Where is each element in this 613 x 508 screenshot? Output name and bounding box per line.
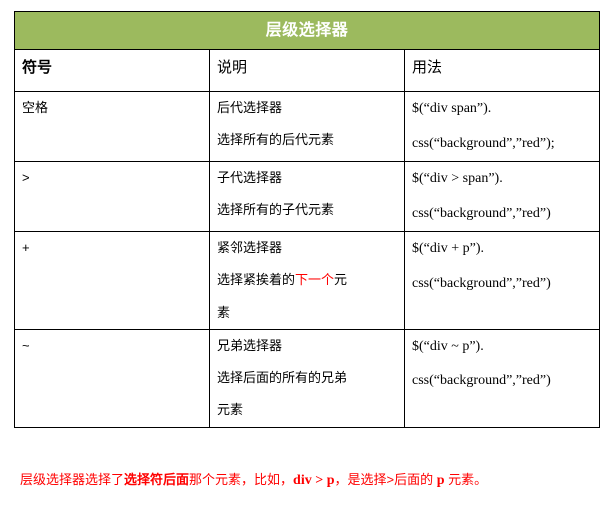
code-line: css(“background”,”red”) bbox=[412, 275, 593, 293]
description-text: 后代选择器 bbox=[217, 100, 282, 115]
description-text: 元 bbox=[334, 272, 347, 287]
table-row: > 子代选择器 选择所有的子代元素 $(“div > span”). css(“… bbox=[15, 162, 600, 232]
footer-text-bold: 选择符后面 bbox=[124, 472, 189, 487]
table-row: ~ 兄弟选择器 选择后面的所有的兄弟 元素 $(“div ~ p”). css(… bbox=[15, 329, 600, 427]
symbol-value: 空格 bbox=[22, 100, 48, 115]
row-symbol-cell: > bbox=[15, 162, 210, 232]
description-highlight: 下一个 bbox=[295, 272, 334, 287]
column-header-symbol: 符号 bbox=[15, 50, 210, 92]
description-text: 选择紧挨着的 bbox=[217, 272, 295, 287]
column-header-symbol-label: 符号 bbox=[15, 50, 209, 77]
symbol-value: ~ bbox=[22, 338, 30, 353]
row-usage-cell: $(“div + p”). css(“background”,”red”) bbox=[405, 232, 600, 330]
description-text: 选择后面的所有的兄弟 bbox=[217, 370, 347, 385]
description-text: 选择所有的后代元素 bbox=[217, 132, 334, 147]
symbol-value: > bbox=[22, 170, 30, 185]
code-line: $(“div + p”). bbox=[412, 240, 593, 258]
description-text: 素 bbox=[217, 305, 230, 320]
description-line: 选择紧挨着的下一个元 bbox=[217, 272, 398, 288]
description-line: 选择所有的子代元素 bbox=[217, 202, 398, 218]
description-text: 元素 bbox=[217, 402, 243, 417]
column-header-usage: 用法 bbox=[405, 50, 600, 92]
table-title: 层级选择器 bbox=[266, 22, 349, 39]
code-line: $(“div span”). bbox=[412, 100, 593, 118]
description-line: 元素 bbox=[217, 402, 398, 418]
code-line: css(“background”,”red”) bbox=[412, 372, 593, 390]
row-usage-cell: $(“div span”). css(“background”,”red”); bbox=[405, 92, 600, 162]
footer-code-snippet-2: p bbox=[437, 473, 445, 488]
table-column-header-row: 符号 说明 用法 bbox=[15, 50, 600, 92]
footer-code-snippet: div > p bbox=[293, 473, 334, 488]
code-line: $(“div > span”). bbox=[412, 170, 593, 188]
row-symbol-cell: 空格 bbox=[15, 92, 210, 162]
table-row: 空格 后代选择器 选择所有的后代元素 $(“div span”). css(“b… bbox=[15, 92, 600, 162]
description-line: 选择后面的所有的兄弟 bbox=[217, 370, 398, 386]
row-usage-cell: $(“div ~ p”). css(“background”,”red”) bbox=[405, 329, 600, 427]
description-line: 子代选择器 bbox=[217, 170, 398, 186]
description-text: 选择所有的子代元素 bbox=[217, 202, 334, 217]
row-symbol-cell: + bbox=[15, 232, 210, 330]
description-text: 子代选择器 bbox=[217, 170, 282, 185]
footer-text-part1: 层级选择器选择了 bbox=[20, 472, 124, 487]
hierarchy-selector-table: 层级选择器 符号 说明 用法 空格 bbox=[14, 11, 600, 428]
description-line: 后代选择器 bbox=[217, 100, 398, 116]
column-header-usage-label: 用法 bbox=[405, 50, 599, 77]
selector-table-container: 层级选择器 符号 说明 用法 空格 bbox=[14, 11, 600, 428]
table-title-cell: 层级选择器 bbox=[15, 12, 600, 50]
symbol-value: + bbox=[22, 240, 30, 255]
table-title-row: 层级选择器 bbox=[15, 12, 600, 50]
row-usage-cell: $(“div > span”). css(“background”,”red”) bbox=[405, 162, 600, 232]
description-line: 紧邻选择器 bbox=[217, 240, 398, 256]
footer-text-part4: 元素。 bbox=[445, 472, 488, 487]
footer-text-part2: 那个元素，比如， bbox=[189, 472, 293, 487]
description-line: 兄弟选择器 bbox=[217, 338, 398, 354]
description-line: 选择所有的后代元素 bbox=[217, 132, 398, 148]
row-description-cell: 后代选择器 选择所有的后代元素 bbox=[210, 92, 405, 162]
row-description-cell: 紧邻选择器 选择紧挨着的下一个元 素 bbox=[210, 232, 405, 330]
row-symbol-cell: ~ bbox=[15, 329, 210, 427]
column-header-description: 说明 bbox=[210, 50, 405, 92]
table-row: + 紧邻选择器 选择紧挨着的下一个元 素 $(“div + p”). css(“… bbox=[15, 232, 600, 330]
row-description-cell: 子代选择器 选择所有的子代元素 bbox=[210, 162, 405, 232]
code-line: css(“background”,”red”) bbox=[412, 205, 593, 223]
footer-note: 层级选择器选择了选择符后面那个元素，比如，div > p，是选择>后面的 p 元… bbox=[20, 472, 600, 490]
description-text: 兄弟选择器 bbox=[217, 338, 282, 353]
page-root: 层级选择器 符号 说明 用法 空格 bbox=[0, 0, 613, 508]
row-description-cell: 兄弟选择器 选择后面的所有的兄弟 元素 bbox=[210, 329, 405, 427]
footer-text-part3: ，是选择>后面的 bbox=[335, 472, 437, 487]
code-line: $(“div ~ p”). bbox=[412, 338, 593, 356]
column-header-description-label: 说明 bbox=[210, 50, 404, 77]
code-line: css(“background”,”red”); bbox=[412, 135, 593, 153]
description-line: 素 bbox=[217, 305, 398, 321]
description-text: 紧邻选择器 bbox=[217, 240, 282, 255]
